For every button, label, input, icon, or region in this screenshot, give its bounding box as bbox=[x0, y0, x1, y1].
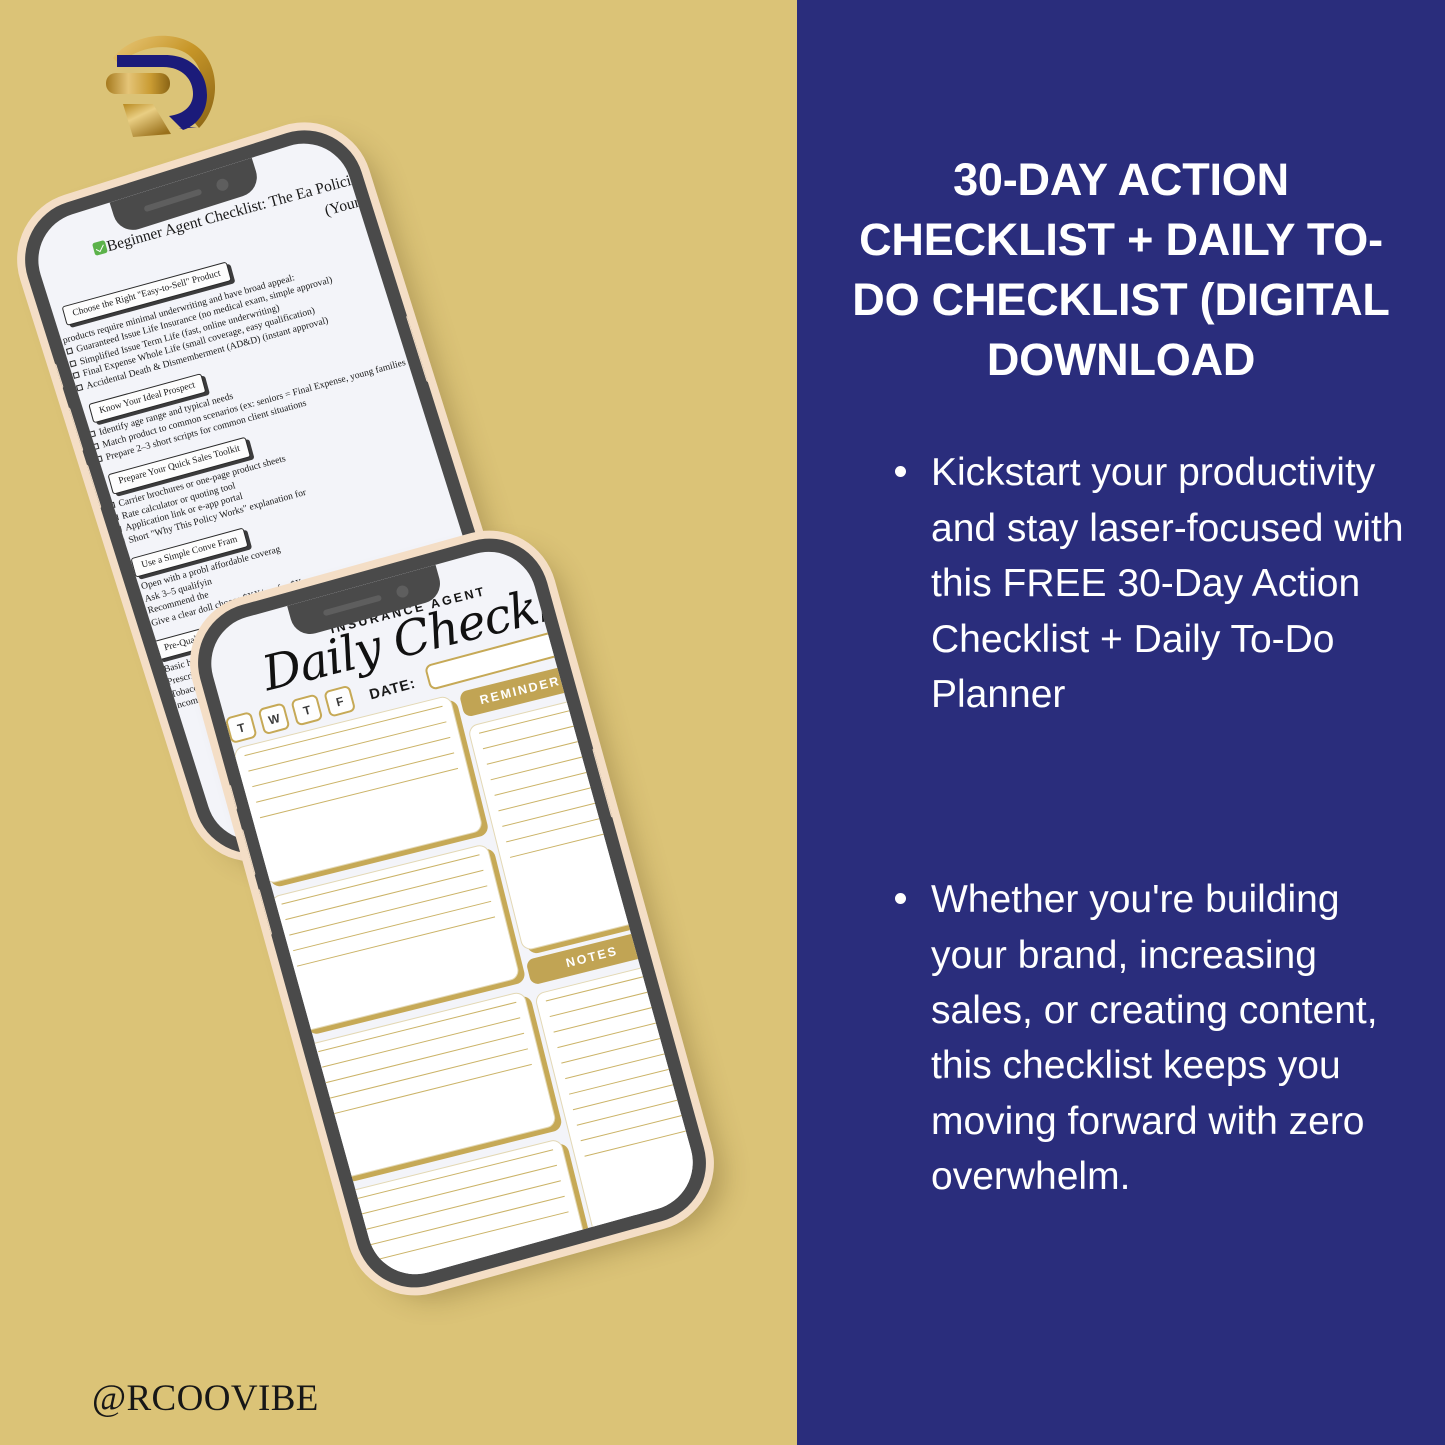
day-box-t1[interactable]: T bbox=[225, 711, 258, 744]
checkbox-icon[interactable] bbox=[131, 585, 138, 592]
bullet-dot-icon bbox=[895, 466, 906, 477]
planner-body: REMINDERS NOTES bbox=[233, 661, 704, 1285]
checkbox-icon[interactable] bbox=[69, 360, 76, 367]
front-camera-icon bbox=[214, 177, 229, 192]
checkbox-icon[interactable] bbox=[73, 372, 80, 379]
step-number: 1 bbox=[28, 303, 61, 339]
rcoo-logo bbox=[93, 24, 228, 169]
r-monogram-icon bbox=[93, 24, 228, 169]
checkbox-icon[interactable] bbox=[157, 680, 164, 687]
promo-bullet: Kickstart your productivity and stay las… bbox=[891, 445, 1409, 722]
checkbox-icon[interactable] bbox=[115, 526, 122, 533]
checkbox-icon[interactable] bbox=[92, 443, 99, 450]
checkbox-icon[interactable] bbox=[134, 597, 141, 604]
earpiece-speaker-icon bbox=[143, 189, 202, 213]
earpiece-speaker-icon bbox=[322, 595, 381, 617]
phone-mockup-daily-checklist: INSURANCE AGENT Daily Checklist T W T F … bbox=[184, 525, 720, 1302]
checkbox-icon[interactable] bbox=[95, 455, 102, 462]
checkbox-icon[interactable] bbox=[138, 609, 145, 616]
checkbox-icon[interactable] bbox=[141, 621, 148, 628]
phone-two-screen: INSURANCE AGENT Daily Checklist T W T F … bbox=[200, 541, 704, 1286]
checkbox-icon[interactable] bbox=[76, 384, 83, 391]
phone-side-button[interactable] bbox=[52, 363, 64, 389]
right-navy-panel: 30-DAY ACTION CHECKLIST + DAILY TO-DO CH… bbox=[797, 0, 1445, 1445]
promo-bullet: Whether you're building your brand, incr… bbox=[891, 872, 1409, 1204]
phone-volume-up-button[interactable] bbox=[66, 407, 84, 452]
day-box-t2[interactable]: T bbox=[290, 694, 323, 727]
bullet-dot-icon bbox=[895, 893, 906, 904]
left-gold-panel: Beginner Agent Checklist: The Ea Policie… bbox=[0, 0, 797, 1445]
checkbox-icon[interactable] bbox=[108, 502, 115, 509]
date-label: DATE: bbox=[368, 676, 418, 704]
daily-checklist-planner: INSURANCE AGENT Daily Checklist T W T F … bbox=[201, 563, 704, 1285]
front-camera-icon bbox=[395, 584, 410, 599]
phone-volume-down-button[interactable] bbox=[84, 464, 102, 509]
step-number: 5 bbox=[120, 638, 153, 674]
checkbox-icon[interactable] bbox=[164, 705, 171, 712]
promo-title: 30-DAY ACTION CHECKLIST + DAILY TO-DO CH… bbox=[833, 150, 1409, 389]
promo-bullet-text: Kickstart your productivity and stay las… bbox=[931, 451, 1404, 716]
checkbox-icon[interactable] bbox=[118, 538, 125, 545]
checkbox-icon[interactable] bbox=[66, 347, 73, 354]
step-number: 4 bbox=[97, 555, 130, 591]
promo-graphic-canvas: Beginner Agent Checklist: The Ea Policie… bbox=[0, 0, 1445, 1445]
promo-bullet-text: Whether you're building your brand, incr… bbox=[931, 878, 1378, 1198]
checkbox-icon[interactable] bbox=[154, 668, 161, 675]
day-box-f[interactable]: F bbox=[323, 685, 356, 718]
checkbox-icon[interactable] bbox=[89, 431, 96, 438]
promo-bullet-list: Kickstart your productivity and stay las… bbox=[833, 445, 1409, 1204]
checkbox-icon[interactable] bbox=[160, 692, 167, 699]
day-box-w[interactable]: W bbox=[258, 703, 291, 736]
social-handle: @RCOOVIBE bbox=[92, 1377, 319, 1420]
checkbox-icon[interactable] bbox=[111, 514, 118, 521]
phone-volume-down-button[interactable] bbox=[256, 889, 273, 936]
